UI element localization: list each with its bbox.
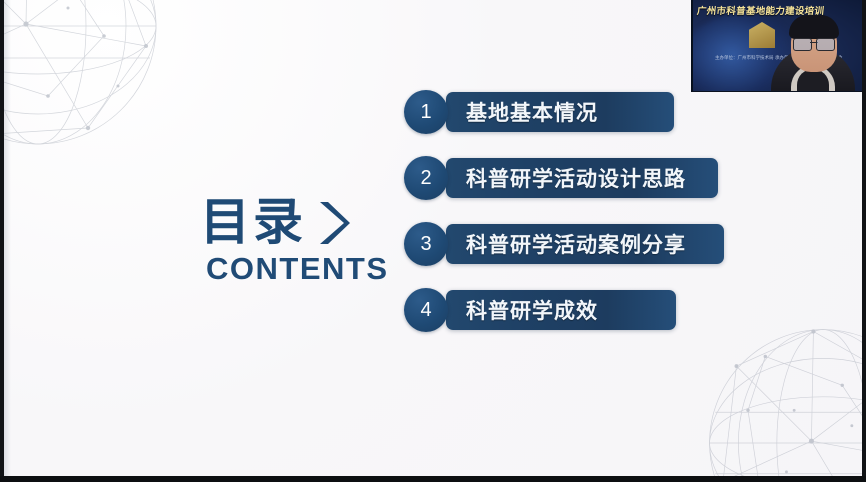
agenda-item-label: 科普研学活动案例分享 [466, 229, 686, 259]
agenda-number-badge: 2 [404, 156, 448, 200]
glasses-lens-right [816, 38, 835, 51]
slide-title-block: 目录 CONTENTS [200, 196, 400, 287]
slide-left-seam [4, 0, 11, 476]
agenda-bar[interactable]: 基地基本情况 [446, 92, 674, 132]
agenda-item-label: 科普研学活动设计思路 [466, 163, 686, 193]
agenda-item-label: 科普研学成效 [466, 295, 598, 325]
presenter-webcam-overlay[interactable]: 广州市科普基地能力建设培训 主办单位：广州市科学技术局 承办单位：广州市科技进步… [691, 0, 862, 92]
agenda-bar[interactable]: 科普研学成效 [446, 290, 676, 330]
presenter-hair [789, 15, 839, 39]
agenda-number-badge: 1 [404, 90, 448, 134]
slide-subtitle-english: CONTENTS [206, 251, 400, 287]
letterbox-left [0, 0, 4, 482]
screen-share-view: 目录 CONTENTS 1 基地基本情况 2 科普研学活动设计思 [0, 0, 866, 482]
slide-title-chinese-row: 目录 [200, 196, 400, 249]
agenda-number-badge: 3 [404, 222, 448, 266]
agenda-number-badge: 4 [404, 288, 448, 332]
letterbox-bottom [0, 476, 866, 482]
letterbox-right [862, 0, 866, 482]
presenter-glasses-icon [793, 38, 835, 49]
chevron-right-icon [314, 198, 352, 248]
agenda-item-label: 基地基本情况 [466, 97, 598, 127]
backdrop-banner-text: 广州市科普基地能力建设培训 [696, 3, 857, 17]
network-globe-top-left-icon [4, 0, 168, 156]
glasses-lens-left [793, 38, 812, 51]
agenda-bar[interactable]: 科普研学活动案例分享 [446, 224, 724, 264]
network-globe-bottom-right-icon [698, 318, 862, 476]
page-title: 目录 [200, 196, 306, 249]
agenda-bar[interactable]: 科普研学活动设计思路 [446, 158, 718, 198]
